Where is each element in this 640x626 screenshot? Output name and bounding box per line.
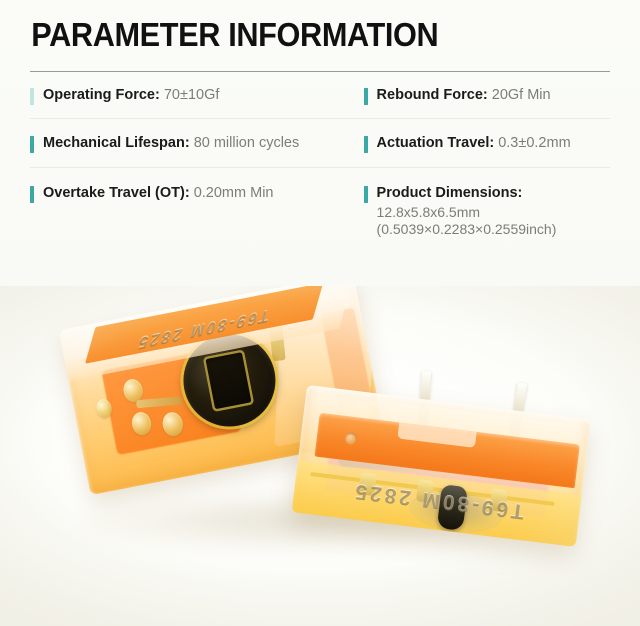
spec-value-mm: 12.8x5.8x6.5mm [377,204,557,221]
spec-value: 20Gf Min [492,87,551,103]
spec-value: 0.20mm Min [194,185,274,201]
bullet-marker-icon [30,136,34,153]
spec-text: Actuation Travel: 0.3±0.2mm [377,134,571,152]
spec-text: Product Dimensions: 12.8x5.8x6.5mm (0.50… [377,184,557,238]
spec-item-overtake-travel: Overtake Travel (OT): 0.20mm Min [22,184,362,203]
spec-row: Mechanical Lifespan: 80 million cycles A… [22,119,618,167]
spec-item-product-dimensions: Product Dimensions: 12.8x5.8x6.5mm (0.50… [362,184,618,238]
spec-text: Operating Force: 70±10Gf [43,86,219,104]
spec-label: Mechanical Lifespan: [43,135,190,151]
spec-label: Operating Force: [43,87,160,103]
spec-value: 0.3±0.2mm [498,135,570,151]
product-photo: T69-80M 2825 T69-80M 2825 [0,286,640,626]
bullet-marker-icon [364,88,368,105]
spec-row: Overtake Travel (OT): 0.20mm Min Product… [22,168,618,244]
bullet-marker-icon [364,186,368,203]
spec-label: Product Dimensions: [377,184,557,202]
bullet-marker-icon [30,186,34,203]
spec-text: Mechanical Lifespan: 80 million cycles [43,134,299,152]
spec-item-operating-force: Operating Force: 70±10Gf [22,86,362,105]
page-title: PARAMETER INFORMATION [22,0,576,55]
spec-item-mechanical-lifespan: Mechanical Lifespan: 80 million cycles [22,134,362,153]
spec-text: Overtake Travel (OT): 0.20mm Min [43,184,273,202]
spec-row: Operating Force: 70±10Gf Rebound Force: … [22,72,618,118]
spec-label: Rebound Force: [377,87,488,103]
spec-text: Rebound Force: 20Gf Min [377,86,551,104]
spec-panel: PARAMETER INFORMATION Operating Force: 7… [0,0,640,244]
spec-value: 70±10Gf [164,87,220,103]
spec-value-inch: (0.5039×0.2283×0.2559inch) [377,221,557,238]
spec-item-rebound-force: Rebound Force: 20Gf Min [362,86,618,105]
parameter-information-page: PARAMETER INFORMATION Operating Force: 7… [0,0,640,626]
spec-label: Actuation Travel: [377,135,495,151]
spec-label: Overtake Travel (OT): [43,185,190,201]
bullet-marker-icon [30,88,34,105]
bullet-marker-icon [364,136,368,153]
spec-item-actuation-travel: Actuation Travel: 0.3±0.2mm [362,134,618,153]
spec-value: 80 million cycles [194,135,300,151]
